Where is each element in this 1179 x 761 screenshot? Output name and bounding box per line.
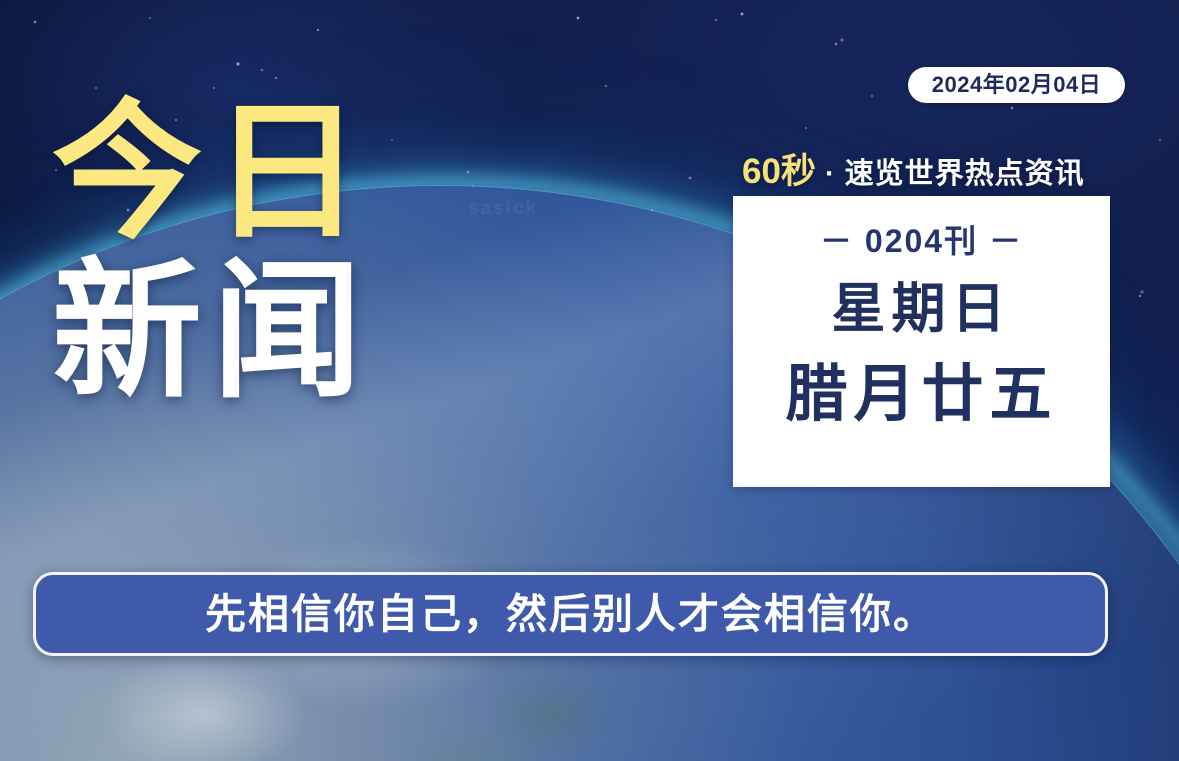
- date-badge-label: 2024年02月04日: [932, 74, 1101, 96]
- brand-title: 今日 新闻: [52, 96, 472, 408]
- tagline-seconds: 60秒: [742, 143, 816, 194]
- lunar-date-label: 腊月廿五: [785, 364, 1057, 426]
- brand-title-line-1: 今日: [52, 96, 472, 249]
- date-info-card: － 0204刊 － 星期日 腊月廿五: [733, 196, 1110, 487]
- watermark-text: sasick: [468, 198, 538, 220]
- weekday-label: 星期日: [832, 282, 1012, 336]
- tagline: 60秒 · 速览世界热点资讯: [742, 143, 1085, 194]
- tagline-text: · 速览世界热点资讯: [825, 150, 1085, 192]
- brand-title-line-2: 新闻: [52, 255, 472, 408]
- news-poster: sasick 2024年02月04日 今日 新闻 60秒 · 速览世界热点资讯 …: [0, 0, 1179, 761]
- issue-number-label: － 0204刊 －: [820, 216, 1023, 262]
- quote-text: 先相信你自己，然后别人才会相信你。: [205, 594, 936, 635]
- date-badge: 2024年02月04日: [908, 67, 1125, 103]
- quote-banner: 先相信你自己，然后别人才会相信你。: [33, 572, 1108, 656]
